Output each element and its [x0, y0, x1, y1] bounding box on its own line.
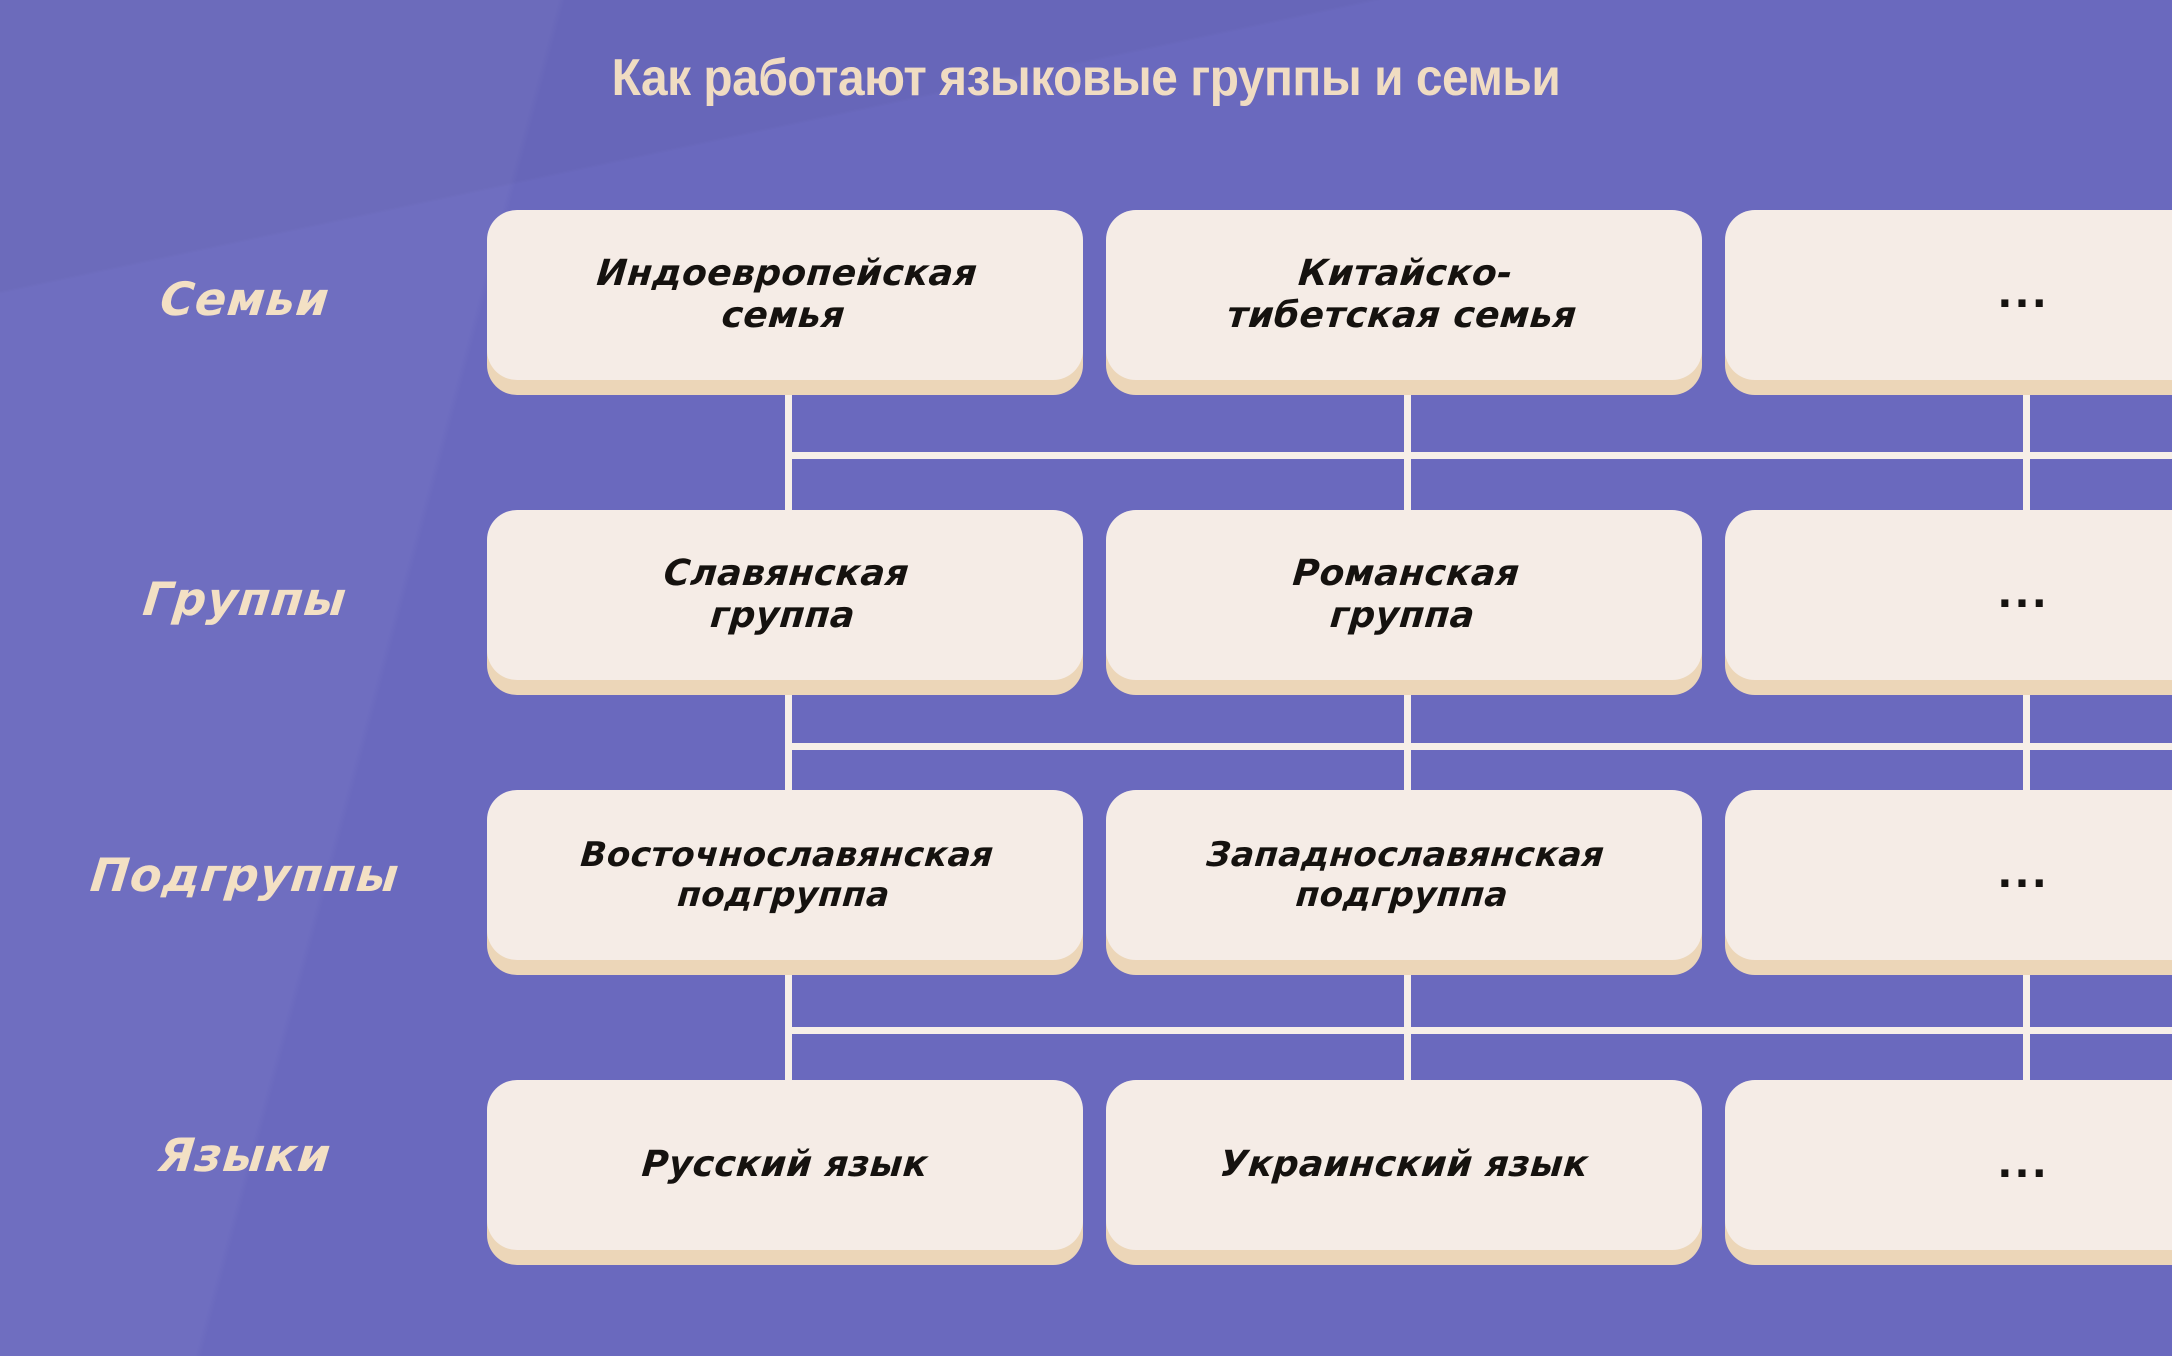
- connector-h-row1: [785, 452, 2172, 459]
- connector-v-r2c1-bottom: [785, 680, 792, 746]
- card-label: Русский язык: [640, 1144, 929, 1186]
- card-label: ...: [1997, 571, 2049, 618]
- card-label: ...: [1997, 851, 2049, 898]
- card-group-more[interactable]: ...: [1725, 510, 2172, 680]
- card-language-ukrainian[interactable]: Украинский язык: [1106, 1080, 1702, 1250]
- card-group-romance[interactable]: Романская группа: [1106, 510, 1702, 680]
- diagram-stage: Как работают языковые группы и семьи Сем…: [0, 0, 2172, 1356]
- connector-v-r4c3-top: [2023, 1027, 2030, 1085]
- connector-v-r3c1-bottom: [785, 960, 792, 1030]
- card-family-indo-european[interactable]: Индоевропейская семья: [487, 210, 1083, 380]
- card-label: Восточнославянская подгруппа: [575, 835, 995, 915]
- connector-v-r2c3-bottom: [2023, 680, 2030, 746]
- connector-v-r4c2-top: [1404, 1027, 1411, 1085]
- row-label-families: Семьи: [57, 272, 433, 326]
- connector-h-row3: [785, 1027, 2172, 1034]
- card-label: Западнославянская подгруппа: [1202, 835, 1607, 915]
- connector-v-r4c1-top: [785, 1027, 792, 1085]
- card-label: ...: [1997, 1141, 2049, 1188]
- connector-v-r1c1-top: [785, 380, 792, 455]
- card-subgroup-west-slavic[interactable]: Западнославянская подгруппа: [1106, 790, 1702, 960]
- card-label: Индоевропейская семья: [591, 253, 979, 338]
- connector-v-r2c2-bottom: [1404, 680, 1411, 746]
- row-label-languages: Языки: [57, 1128, 433, 1182]
- row-label-subgroups: Подгруппы: [57, 848, 433, 902]
- card-label: Украинский язык: [1218, 1144, 1590, 1186]
- card-label: Славянская группа: [659, 553, 911, 638]
- card-family-more[interactable]: ...: [1725, 210, 2172, 380]
- card-subgroup-more[interactable]: ...: [1725, 790, 2172, 960]
- card-label: ...: [1997, 271, 2049, 318]
- card-language-russian[interactable]: Русский язык: [487, 1080, 1083, 1250]
- connector-h-row2: [785, 743, 2172, 750]
- card-subgroup-east-slavic[interactable]: Восточнославянская подгруппа: [487, 790, 1083, 960]
- card-label: Китайско- тибетская семья: [1226, 253, 1583, 338]
- row-label-groups: Группы: [57, 572, 433, 626]
- card-label: Романская группа: [1287, 553, 1521, 638]
- card-language-more[interactable]: ...: [1725, 1080, 2172, 1250]
- card-family-sino-tibetan[interactable]: Китайско- тибетская семья: [1106, 210, 1702, 380]
- connector-v-r1c2-top: [1404, 380, 1411, 455]
- page-title: Как работают языковые группы и семьи: [87, 48, 2085, 108]
- connector-v-r3c3-bottom: [2023, 960, 2030, 1030]
- connector-v-r3c2-bottom: [1404, 960, 1411, 1030]
- card-group-slavic[interactable]: Славянская группа: [487, 510, 1083, 680]
- connector-v-r1c3-top: [2023, 380, 2030, 455]
